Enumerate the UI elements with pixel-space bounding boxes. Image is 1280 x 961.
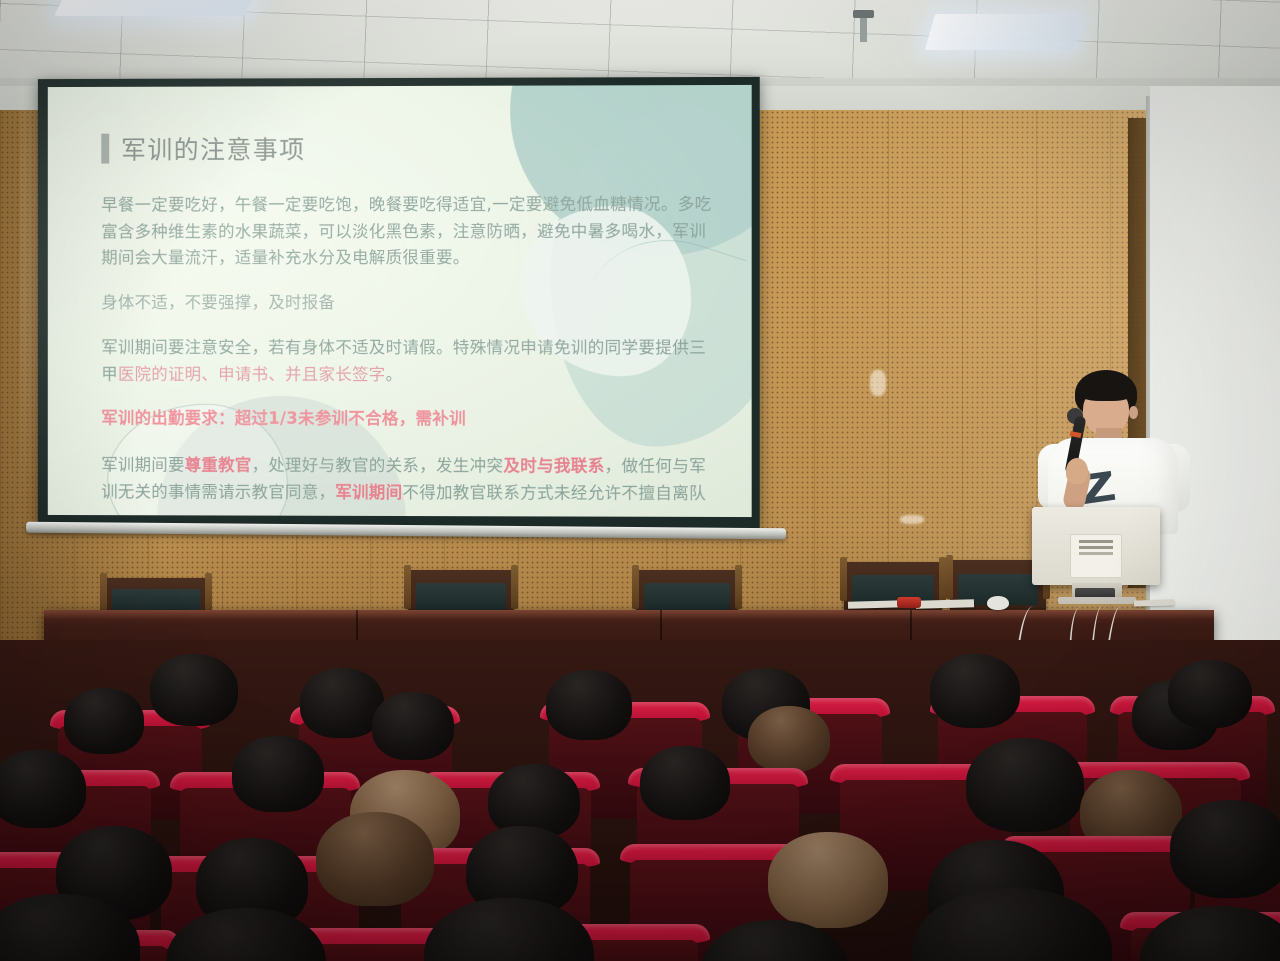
audience-head (64, 688, 144, 754)
audience-head (546, 670, 632, 740)
slide-paragraph-medical: 军训期间要注意安全，若有身体不适及时请假。特殊情况申请免训的同学要提供三甲医院的… (101, 335, 721, 389)
slide-paragraph-discipline: 军训期间要尊重教官，处理好与教官的关系，发生冲突及时与我联系，做任何与军训无关的… (101, 452, 721, 507)
audience-head (316, 812, 434, 906)
discipline-part1: 军训期间要 (101, 455, 184, 474)
audience-head (1170, 800, 1280, 898)
desk-paper (1134, 599, 1174, 606)
ceiling-light-panel-right (925, 14, 1083, 50)
projection-screen: 军训的注意事项 早餐一定要吃好，午餐一定要吃饱，晚餐要吃得适宜,一定要避免低血糖… (38, 77, 760, 529)
presenter-fringe (1076, 379, 1136, 401)
presenter-ear (1129, 406, 1138, 419)
audience-head (768, 832, 888, 928)
chair-arm (939, 557, 946, 601)
audience-head (0, 750, 86, 828)
discipline-hl-respect: 尊重教官 (185, 456, 252, 475)
audience-head (1168, 660, 1252, 728)
desk-paper (916, 599, 974, 609)
audience-head (150, 654, 238, 726)
slide-paragraph-attendance: 军训的出勤要求：超过1/3未参训不合格，需补训 (101, 406, 721, 434)
chair-arm (511, 565, 518, 609)
medical-highlight: 医院的证明、申请书、并且家长签字 (118, 364, 386, 383)
wall-scuff-mark (900, 515, 924, 524)
chair-arm (735, 565, 742, 609)
slide-content: 军训的注意事项 早餐一定要吃好，午餐一定要吃饱，晚餐要吃得适宜,一定要避免低血糖… (101, 129, 721, 517)
medical-tail: 。 (386, 365, 403, 384)
audience-head (930, 654, 1020, 728)
desk-mouse (987, 596, 1009, 610)
discipline-part4: 不得加教官联系方式未经允许不擅自离队 (402, 483, 706, 503)
slide-title: 军训的注意事项 (121, 130, 306, 166)
chair-arm (404, 565, 411, 609)
projected-slide: 军训的注意事项 早餐一定要吃好，午餐一定要吃饱，晚餐要吃得适宜,一定要避免低血糖… (48, 85, 752, 517)
chair-cushion (416, 583, 505, 612)
audience-seating (0, 640, 1280, 961)
chair-arm (946, 555, 953, 599)
slide-title-row: 军训的注意事项 (101, 129, 721, 166)
monitor-sticker (1070, 534, 1122, 578)
lecture-hall-scene: 军训的注意事项 早餐一定要吃好，午餐一定要吃饱，晚餐要吃得适宜,一定要避免低血糖… (0, 0, 1280, 961)
audience-head (748, 706, 830, 772)
wall-scuff-mark (870, 370, 886, 396)
discipline-hl-contact: 及时与我联系 (503, 456, 604, 475)
audience-head (966, 738, 1084, 832)
discipline-part2: ，处理好与教官的关系，发生冲突 (252, 456, 504, 476)
slide-paragraph-nutrition: 早餐一定要吃好，午餐一定要吃饱，晚餐要吃得适宜,一定要避免低血糖情况。多吃富含多… (101, 191, 721, 272)
audience-head (372, 692, 454, 760)
chair-cushion (644, 583, 730, 612)
desk-red-object (897, 597, 921, 608)
podium-monitor (1032, 507, 1160, 585)
chair-arm (840, 557, 847, 601)
slide-paragraph-health: 身体不适，不要强撑，及时报备 (101, 290, 721, 317)
discipline-hl-period: 军训期间 (335, 483, 402, 502)
title-accent-bar (101, 134, 109, 164)
presenter-hand (1066, 458, 1088, 484)
presenter: Z (1030, 370, 1195, 530)
audience-head (232, 736, 324, 812)
chair-arm (632, 565, 639, 609)
audience-head (640, 746, 730, 820)
ceiling-sensor-icon (860, 16, 867, 42)
ceiling-light-panel-left (54, 0, 256, 16)
desk-paper (848, 600, 904, 608)
monitor-base (1058, 597, 1136, 604)
